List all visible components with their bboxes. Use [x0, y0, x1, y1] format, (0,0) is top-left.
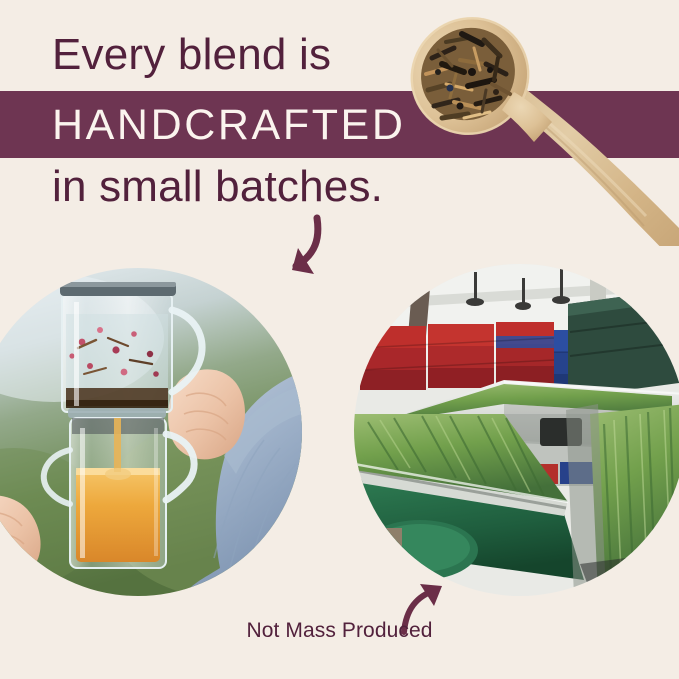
tea-conveyor-photo: [354, 264, 679, 596]
headline-line-2: HANDCRAFTED: [52, 104, 406, 147]
headline-line-1: Every blend is: [52, 33, 331, 77]
promo-poster: Every blend is HANDCRAFTED in small batc…: [0, 0, 679, 679]
tea-steeper-photo: [0, 268, 302, 596]
caption-text: Not Mass Produced: [246, 619, 432, 643]
arrow-to-steeper-icon: [262, 212, 358, 294]
caption-not-mass-produced: Not Mass Produced: [0, 619, 679, 643]
headline-line-3: in small batches.: [52, 165, 383, 209]
